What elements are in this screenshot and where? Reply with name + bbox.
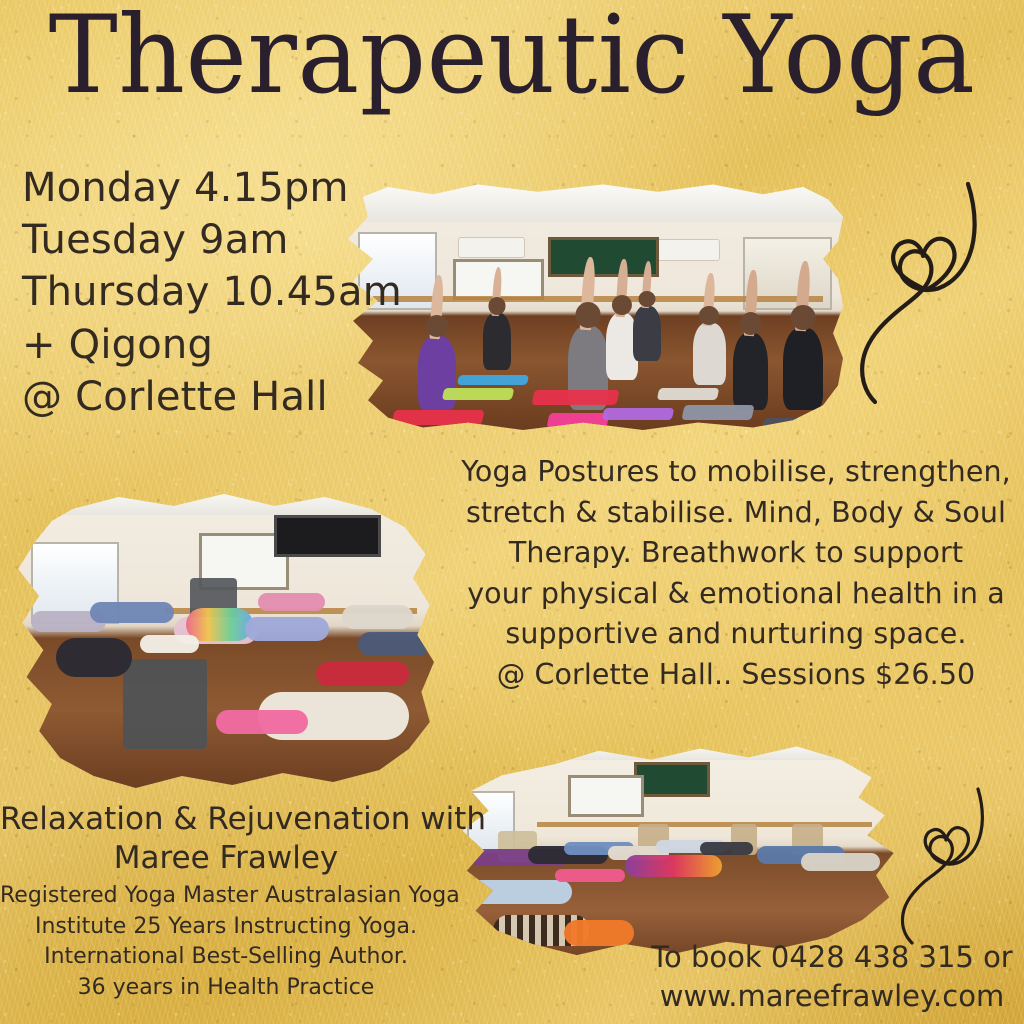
schedule-line-thursday: Thursday 10.45am xyxy=(22,266,382,318)
credentials-heading-line1: Relaxation & Rejuvenation with xyxy=(0,800,452,839)
description-line-1: Yoga Postures to mobilise, strengthen, xyxy=(452,452,1020,493)
instructor-credentials: Relaxation & Rejuvenation with Maree Fra… xyxy=(0,800,452,1003)
description-line-5: supportive and nurturing space. xyxy=(452,614,1020,655)
schedule-line-monday: Monday 4.15pm xyxy=(22,162,382,214)
credentials-detail-1: Registered Yoga Master Australasian Yoga xyxy=(0,881,452,912)
description-line-2: stretch & stabilise. Mind, Body & Soul xyxy=(452,493,1020,534)
credentials-detail-3: International Best-Selling Author. xyxy=(0,942,452,973)
photo-relaxation-class xyxy=(14,488,434,788)
photo-savasana-class xyxy=(458,742,898,964)
description-line-3: Therapy. Breathwork to support xyxy=(452,533,1020,574)
class-schedule: Monday 4.15pm Tuesday 9am Thursday 10.45… xyxy=(22,162,382,423)
description-line-price: @ Corlette Hall.. Sessions $26.50 xyxy=(452,655,1020,696)
class-description: Yoga Postures to mobilise, strengthen, s… xyxy=(452,452,1020,696)
heart-dancer-line-figure-icon xyxy=(836,168,1016,432)
photo-yoga-class xyxy=(343,182,843,430)
description-line-4: your physical & emotional health in a xyxy=(452,574,1020,615)
schedule-line-qigong: + Qigong xyxy=(22,319,382,371)
instructor-name: Maree Frawley xyxy=(0,839,452,878)
heart-dancer-line-figure-icon-small xyxy=(884,778,1012,964)
credentials-detail-2: Institute 25 Years Instructing Yoga. xyxy=(0,912,452,943)
yoga-flyer-poster: Therapeutic Yoga xyxy=(0,0,1024,1024)
schedule-line-tuesday: Tuesday 9am xyxy=(22,214,382,266)
credentials-detail-4: 36 years in Health Practice xyxy=(0,973,452,1004)
schedule-line-venue: @ Corlette Hall xyxy=(22,371,382,423)
page-title: Therapeutic Yoga xyxy=(20,2,1003,110)
booking-website-line[interactable]: www.mareefrawley.com xyxy=(640,977,1024,1016)
